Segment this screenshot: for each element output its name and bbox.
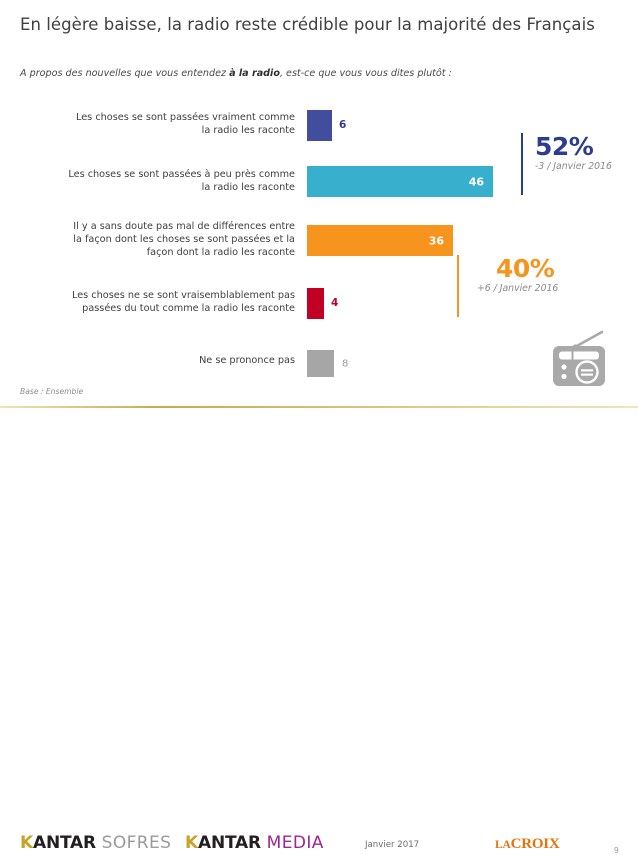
row-label-4-line1: Les choses ne se sont vraisemblablement … — [10, 289, 295, 302]
row-label-4-line2: passées du tout comme la radio les racon… — [10, 302, 295, 315]
base-note: Base : Ensemble — [20, 387, 83, 396]
row-label-3-line2: la façon dont les choses se sont passées… — [10, 233, 295, 246]
kantar-media-suffix: MEDIA — [267, 833, 324, 853]
row-label-2: Les choses se sont passées à peu près co… — [10, 168, 295, 194]
callout-percent-40: 40% — [471, 255, 558, 283]
callout-delta-40: +6 / Janvier 2016 — [471, 283, 558, 295]
logo-la-croix: LACROIX — [495, 836, 560, 853]
callout-rule-orange — [457, 255, 459, 317]
kantar-sofres-word: ANTAR — [33, 833, 96, 853]
row-label-3: Il y a sans doute pas mal de différences… — [10, 220, 295, 260]
la-croix-small: LA — [495, 839, 511, 851]
callout-delta-52: -3 / Janvier 2016 — [535, 161, 612, 173]
row-label-1: Les choses se sont passées vraiment comm… — [10, 111, 295, 137]
page-number: 9 — [614, 846, 619, 855]
row-label-2-line2: la radio les raconte — [10, 181, 295, 194]
kantar-media-initial: K — [185, 833, 198, 853]
logo-kantar-sofres: KANTAR SOFRES — [20, 833, 171, 853]
kantar-sofres-initial: K — [20, 833, 33, 853]
bar-1 — [307, 110, 332, 141]
row-label-3-line3: façon dont la radio les raconte — [10, 246, 295, 259]
bar-5 — [307, 350, 334, 377]
bar-value-2: 46 — [469, 175, 484, 188]
page-title: En légère baisse, la radio reste crédibl… — [20, 15, 595, 34]
footer: KANTAR SOFRES KANTAR MEDIA Janvier 2017 … — [0, 408, 638, 463]
footer-date: Janvier 2017 — [365, 840, 419, 850]
row-label-1-line1: Les choses se sont passées vraiment comm… — [10, 111, 295, 124]
callout-percent-52: 52% — [535, 133, 612, 161]
bar-chart: Les choses se sont passées vraiment comm… — [0, 100, 638, 385]
callout-non-credible: 40% +6 / Janvier 2016 — [457, 255, 558, 317]
kantar-media-word: ANTAR — [198, 833, 261, 853]
bar-value-3: 36 — [429, 234, 444, 247]
bar-value-4: 4 — [331, 297, 338, 309]
logo-kantar-media: KANTAR MEDIA — [185, 833, 324, 853]
row-label-5-line1: Ne se prononce pas — [10, 354, 295, 367]
callout-rule-blue — [521, 133, 523, 195]
chart-row-5: Ne se prononce pas 8 — [0, 344, 638, 384]
bar-value-1: 6 — [339, 119, 346, 131]
callout-credible: 52% -3 / Janvier 2016 — [521, 133, 612, 195]
kantar-sofres-suffix: SOFRES — [102, 833, 172, 853]
bar-value-5: 8 — [342, 359, 348, 370]
row-label-2-line1: Les choses se sont passées à peu près co… — [10, 168, 295, 181]
row-label-5: Ne se prononce pas — [10, 354, 295, 367]
bar-2: 46 — [307, 166, 493, 197]
question-text: A propos des nouvelles que vous entendez… — [20, 68, 452, 79]
row-label-3-line1: Il y a sans doute pas mal de différences… — [10, 220, 295, 233]
question-suffix: , est-ce que vous vous dites plutôt : — [280, 68, 452, 79]
bar-3: 36 — [307, 225, 453, 256]
row-label-1-line2: la radio les raconte — [10, 124, 295, 137]
question-prefix: A propos des nouvelles que vous entendez — [20, 68, 229, 79]
la-croix-main: CROIX — [511, 836, 560, 852]
question-highlight: à la radio — [229, 68, 280, 79]
bar-4 — [307, 288, 324, 319]
row-label-4: Les choses ne se sont vraisemblablement … — [10, 289, 295, 315]
radio-icon — [545, 330, 615, 392]
